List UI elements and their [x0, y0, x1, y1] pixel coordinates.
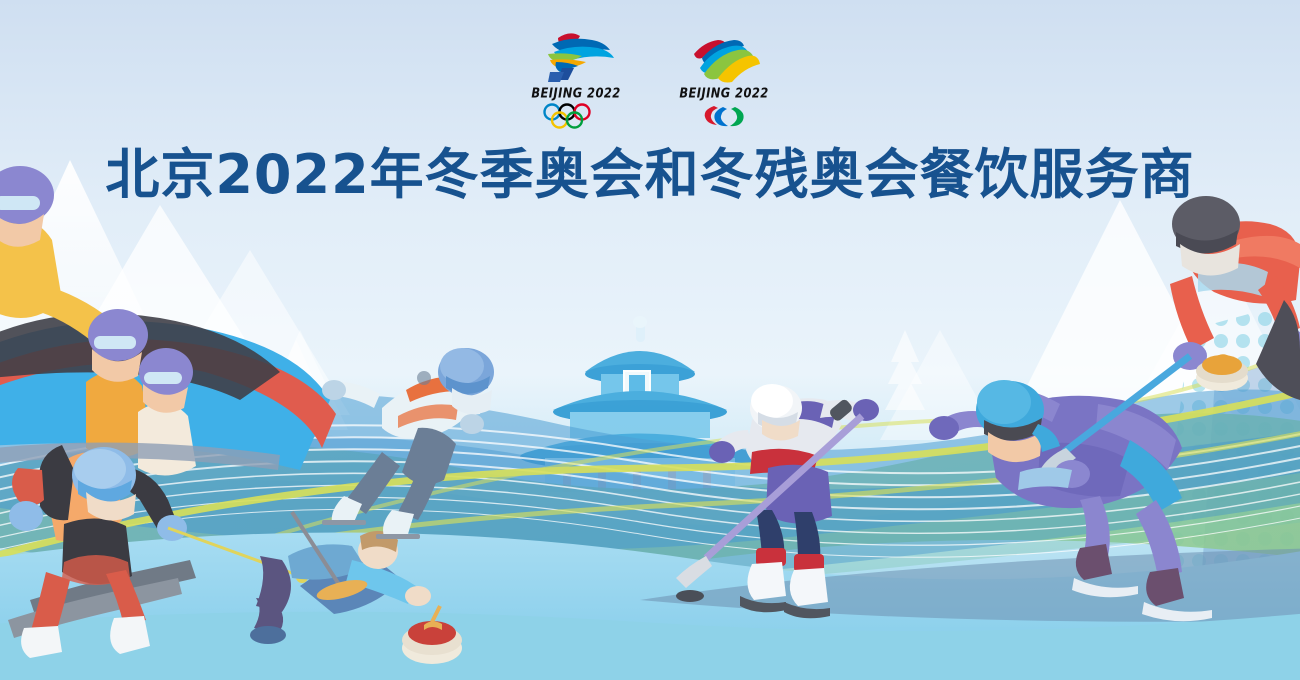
- paralympic-agitos: [696, 103, 752, 129]
- olympic-rings: [539, 103, 613, 129]
- athlete-bobsleigh-team: [0, 166, 336, 476]
- paralympic-wordmark: BEIJING 2022: [679, 85, 768, 101]
- paralympic-emblem-mark: [678, 28, 770, 84]
- athlete-ice-hockey-player: [676, 384, 879, 618]
- paralympic-emblem: BEIJING 2022: [670, 28, 778, 129]
- page-title: 北京2022年冬季奥会和冬残奥会餐饮服务商: [0, 144, 1300, 206]
- beijing-2022-banner: BEIJING 2022: [0, 0, 1300, 680]
- emblem-row: BEIJING 2022: [0, 28, 1300, 138]
- athlete-curler-delivery: [250, 512, 462, 664]
- olympic-emblem: BEIJING 2022: [522, 28, 630, 129]
- curling-stone: [402, 606, 462, 664]
- olympic-wordmark: BEIJING 2022: [531, 85, 620, 101]
- athlete-speed-skater-white: [322, 348, 494, 539]
- athlete-speed-skater-purple: [929, 380, 1212, 621]
- olympic-emblem-mark: [530, 28, 622, 84]
